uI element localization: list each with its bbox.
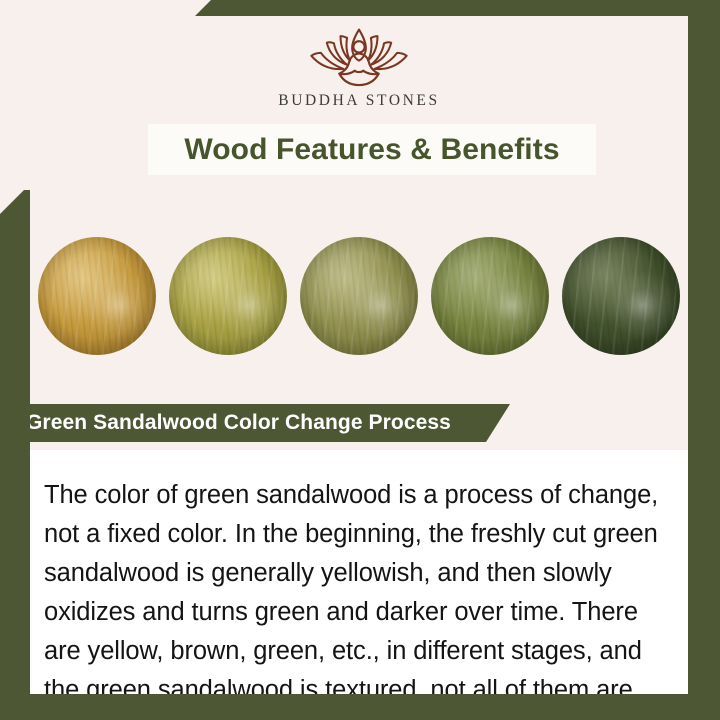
title-panel: Wood Features & Benefits	[148, 124, 596, 175]
bead-stage-3-olive	[300, 237, 418, 355]
brand-wordmark: BUDDHA STONES	[278, 92, 439, 110]
body-paragraph: The color of green sandalwood is a proce…	[44, 476, 666, 720]
section-banner: Green Sandalwood Color Change Process	[0, 404, 510, 442]
bead-shading	[562, 237, 680, 355]
lotus-meditation-icon	[293, 26, 425, 88]
bead-shading	[431, 237, 549, 355]
bead-stage-5-dark-green	[562, 237, 680, 355]
body-panel: The color of green sandalwood is a proce…	[30, 450, 688, 694]
bead-shading	[38, 237, 156, 355]
bead-stage-4-green	[431, 237, 549, 355]
brand-header: BUDDHA STONES	[30, 16, 688, 121]
section-banner-label: Green Sandalwood Color Change Process	[0, 411, 451, 435]
frame-band-right	[688, 0, 720, 720]
bead-stage-1-yellow	[38, 237, 156, 355]
frame-band-left	[0, 190, 30, 720]
bead-shading	[169, 237, 287, 355]
frame-band-bottom	[0, 694, 720, 720]
frame-band-top	[195, 0, 720, 16]
page-title: Wood Features & Benefits	[184, 133, 559, 167]
bead-gallery	[30, 228, 688, 364]
infographic-canvas: BUDDHA STONES Wood Features & Benefits	[0, 0, 720, 720]
bead-shading	[300, 237, 418, 355]
bead-stage-2-yellow-green	[169, 237, 287, 355]
